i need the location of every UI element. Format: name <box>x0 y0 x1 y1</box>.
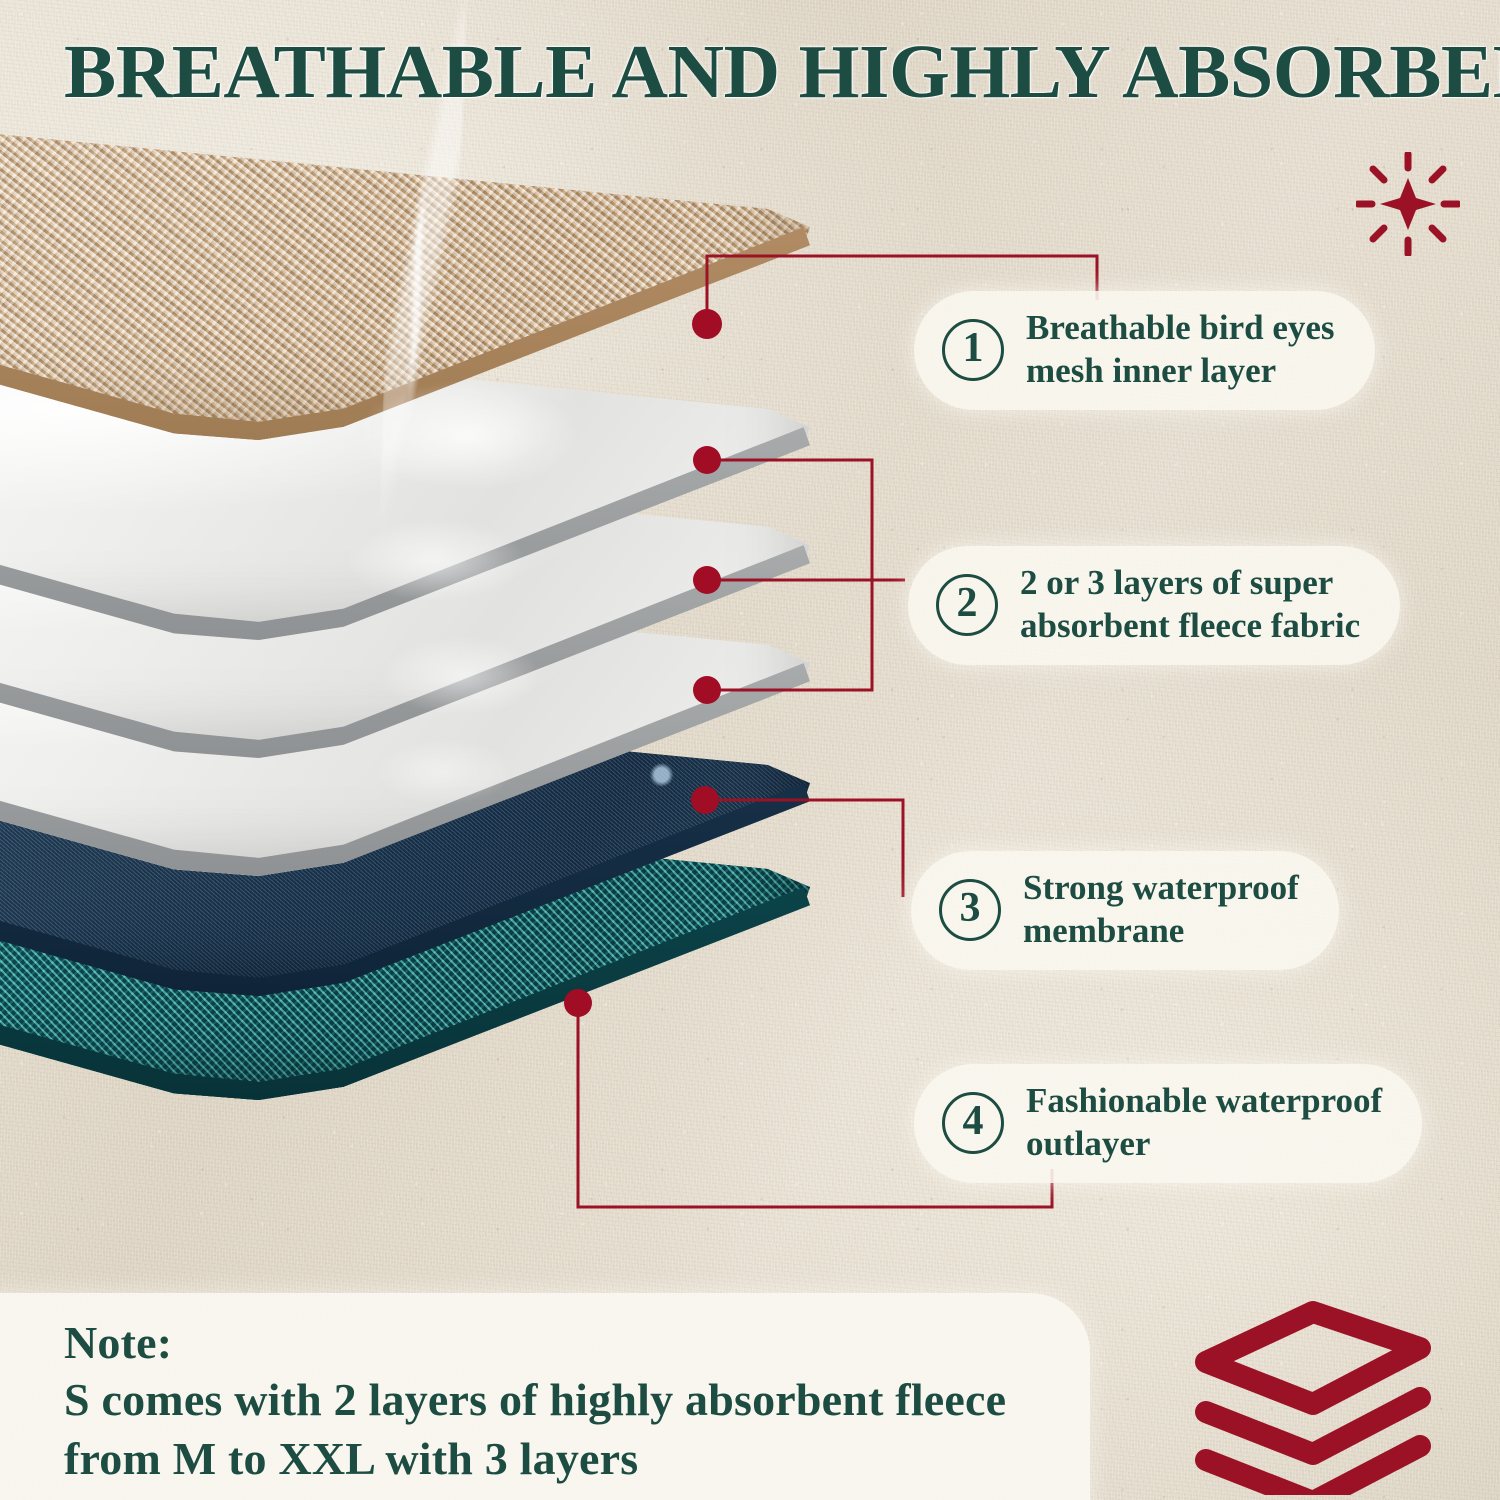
page-title: BREATHABLE AND HIGHLY ABSORBENT <box>64 34 1500 110</box>
callout-1-number: 1 <box>942 319 1004 381</box>
note-body: Note: S comes with 2 layers of highly ab… <box>64 1315 1084 1489</box>
infographic-canvas: BREATHABLE AND HIGHLY ABSORBENT <box>0 0 1500 1500</box>
note-panel: Note: S comes with 2 layers of highly ab… <box>0 1293 1090 1500</box>
callout-4-label: Fashionable waterproof outlayer <box>1026 1080 1382 1165</box>
callout-2-number: 2 <box>936 574 998 636</box>
callout-3[interactable]: 3 Strong waterproof membrane <box>911 851 1339 970</box>
note-line-1: S comes with 2 layers of highly absorben… <box>64 1371 1084 1430</box>
fabric-layer-stack <box>0 110 830 1160</box>
callout-2[interactable]: 2 2 or 3 layers of super absorbent fleec… <box>908 546 1400 665</box>
callout-3-number: 3 <box>939 879 1001 941</box>
layers-stack-icon <box>1188 1300 1438 1495</box>
sparkle-icon <box>1356 152 1460 256</box>
callout-4-number: 4 <box>942 1092 1004 1154</box>
note-line-2: from M to XXL with 3 layers <box>64 1430 1084 1489</box>
callout-4[interactable]: 4 Fashionable waterproof outlayer <box>914 1064 1422 1183</box>
callout-3-label: Strong waterproof membrane <box>1023 867 1299 952</box>
note-label: Note: <box>64 1315 1084 1371</box>
callout-1[interactable]: 1 Breathable bird eyes mesh inner layer <box>914 291 1375 410</box>
fabric-layer-mesh <box>0 110 810 440</box>
callout-2-label: 2 or 3 layers of super absorbent fleece … <box>1020 562 1360 647</box>
callout-1-label: Breathable bird eyes mesh inner layer <box>1026 307 1335 392</box>
